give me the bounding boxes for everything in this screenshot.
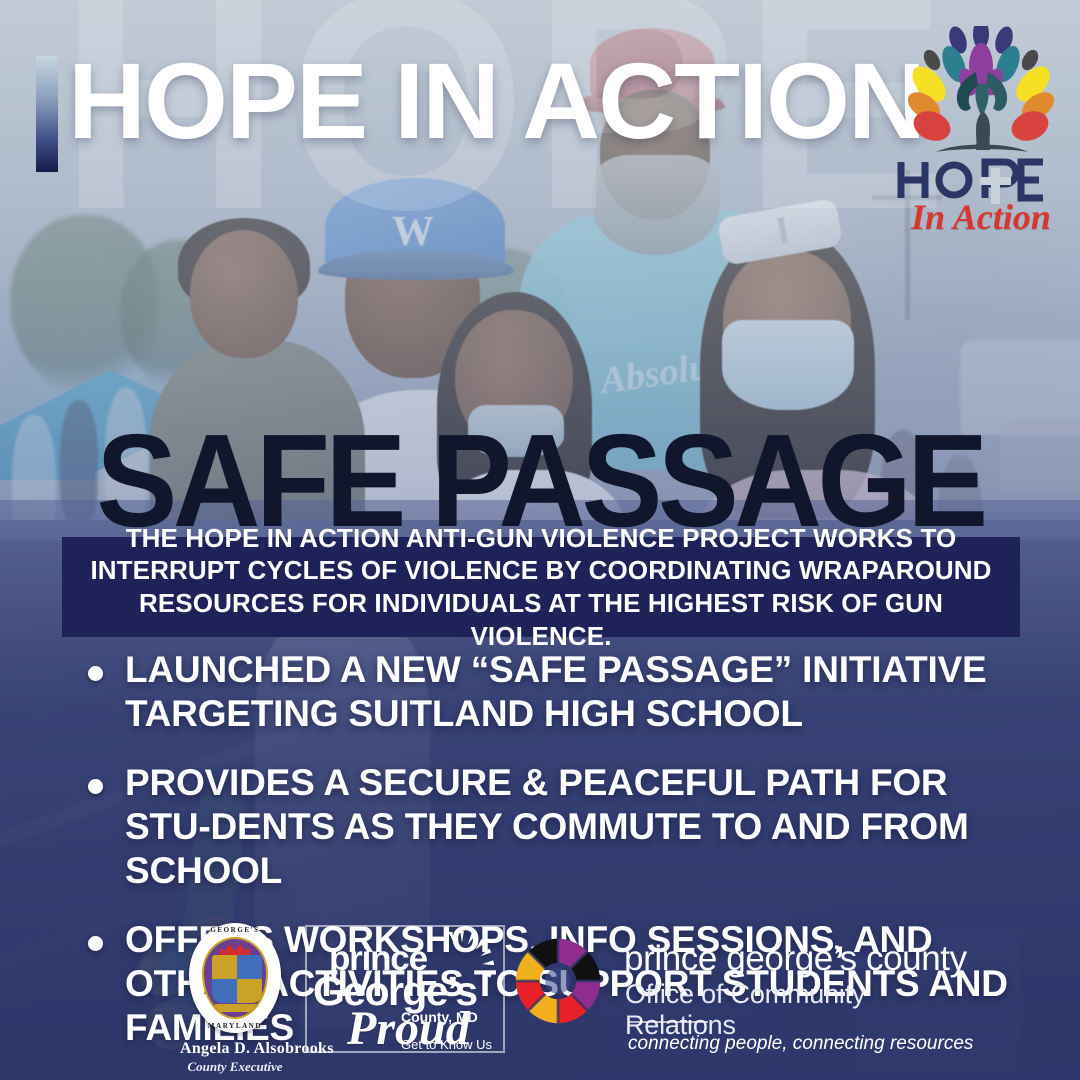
ocr-logo: prince george’s county Office of Communi… xyxy=(512,929,982,1059)
poster-canvas: Absolute W xyxy=(0,0,1080,1080)
shield-quarter xyxy=(237,979,262,1003)
proud-tagline: Get to Know Us xyxy=(401,1037,492,1052)
list-item: PROVIDES A SECURE & PEACEFUL PATH FOR ST… xyxy=(88,761,1040,892)
description-text: THE HOPE IN ACTION ANTI-GUN VIOLENCE PRO… xyxy=(76,522,1006,653)
ocr-line2: Office of Community Relations xyxy=(625,979,982,1041)
bullet-text: PROVIDES A SECURE & PEACEFUL PATH FOR ST… xyxy=(125,761,1040,892)
shield-quarter xyxy=(212,955,237,979)
executive-name: Angela D. Alsobrooks xyxy=(180,1040,290,1058)
ocr-tagline: connecting people, connecting resources xyxy=(628,1033,973,1055)
list-item: LAUNCHED A NEW “SAFE PASSAGE” INITIATIVE… xyxy=(88,648,1040,735)
accent-bar xyxy=(36,56,58,172)
county-seal-logo: GEORGE'S PRINCE COUNTY MARYLAND An xyxy=(180,923,290,1075)
bullet-dot-icon xyxy=(88,779,103,794)
footer-logos: GEORGE'S PRINCE COUNTY MARYLAND An xyxy=(0,915,1080,1080)
heraldic-shield xyxy=(212,955,262,1003)
pg-proud-logo: prince George’s County, MD Proud Get to … xyxy=(305,925,505,1053)
ocr-line1: prince george’s county xyxy=(624,939,967,979)
county-seal-icon: GEORGE'S PRINCE COUNTY MARYLAND xyxy=(189,923,281,1033)
shield-quarter xyxy=(212,979,237,1003)
description-box: THE HOPE IN ACTION ANTI-GUN VIOLENCE PRO… xyxy=(62,537,1020,637)
seal-shield-field xyxy=(202,937,268,1019)
hope-tree-icon xyxy=(902,26,1062,158)
bullet-text: LAUNCHED A NEW “SAFE PASSAGE” INITIATIVE… xyxy=(125,648,1040,735)
shield-quarter xyxy=(237,955,262,979)
crown-icon xyxy=(220,942,250,956)
seal-ring-top: GEORGE'S xyxy=(210,926,259,934)
page-title: HOPE IN ACTION xyxy=(68,47,924,155)
hope-in-action-logo: In Action xyxy=(888,26,1074,232)
seal-ring-bottom: MARYLAND xyxy=(208,1022,262,1030)
executive-title: County Executive xyxy=(180,1059,290,1075)
ocr-divider xyxy=(628,1021,708,1023)
in-action-script: In Action xyxy=(888,196,1074,238)
bullet-dot-icon xyxy=(88,666,103,681)
community-ring-icon xyxy=(512,935,604,1027)
seal-scroll xyxy=(213,1004,261,1012)
